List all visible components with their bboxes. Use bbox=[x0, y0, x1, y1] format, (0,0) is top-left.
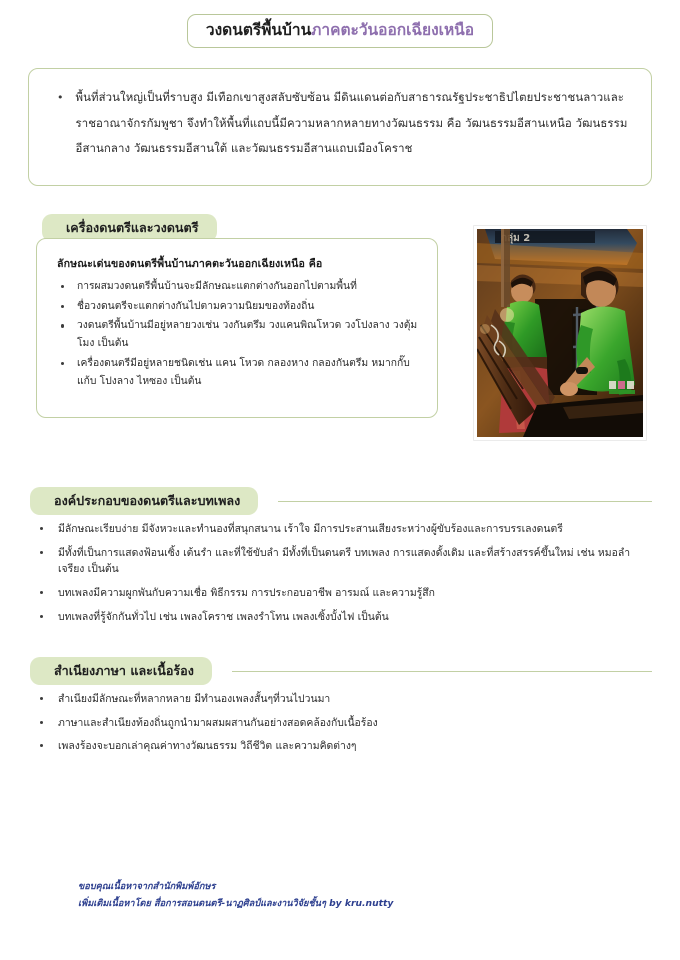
section-rule-dialect bbox=[232, 671, 652, 672]
section-header-dialect-label: สำเนียงภาษา และเนื้อร้อง bbox=[54, 661, 194, 681]
performance-photo-canvas: กลุ่ม 2 bbox=[477, 229, 643, 437]
page-title-wrapper: วงดนตรีพื้นบ้านภาคตะวันออกเฉียงเหนือ bbox=[0, 14, 680, 48]
list-item: มีลักษณะเรียบง่าย มีจังหวะและทำนองที่สนุ… bbox=[30, 521, 654, 538]
list-item: สำเนียงมีลักษณะที่หลากหลาย มีทำนองเพลงสั… bbox=[30, 691, 654, 708]
intro-bullet-row: • พื้นที่ส่วนใหญ่เป็นที่ราบสูง มีเทือกเข… bbox=[49, 85, 631, 162]
instruments-subheading: ลักษณะเด่นของดนตรีพื้นบ้านภาคตะวันออกเฉี… bbox=[57, 255, 421, 272]
footer-line-2: เพิ่มเติมเนื้อหาโดย สื่อการสอนดนตรี-นาฏศ… bbox=[78, 895, 598, 912]
section-rule-components bbox=[278, 501, 652, 502]
dialect-bullet-list: สำเนียงมีลักษณะที่หลากหลาย มีทำนองเพลงสั… bbox=[30, 691, 654, 762]
list-item: มีทั้งที่เป็นการแสดงฟ้อนเซิ้ง เต้นรำ และ… bbox=[30, 545, 654, 578]
list-item: บทเพลงมีความผูกพันกับความเชื่อ พิธีกรรม … bbox=[30, 585, 654, 602]
instruments-panel: ลักษณะเด่นของดนตรีพื้นบ้านภาคตะวันออกเฉี… bbox=[36, 238, 438, 418]
bullet-icon: • bbox=[57, 92, 64, 103]
performance-photo: กลุ่ม 2 bbox=[474, 226, 646, 440]
list-item: วงดนตรีพื้นบ้านมีอยู่หลายวงเช่น วงกันตรึ… bbox=[53, 317, 421, 352]
page-title-main: วงดนตรีพื้นบ้าน bbox=[206, 21, 311, 39]
components-bullet-list: มีลักษณะเรียบง่าย มีจังหวะและทำนองที่สนุ… bbox=[30, 521, 654, 632]
page-title-accent: ภาคตะวันออกเฉียงเหนือ bbox=[311, 21, 474, 39]
document-page: วงดนตรีพื้นบ้านภาคตะวันออกเฉียงเหนือ • พ… bbox=[0, 0, 680, 960]
section-header-instruments-label: เครื่องดนตรีและวงดนตรี bbox=[66, 218, 199, 238]
performance-photo-illustration: กลุ่ม 2 bbox=[477, 229, 643, 437]
page-title: วงดนตรีพื้นบ้านภาคตะวันออกเฉียงเหนือ bbox=[187, 14, 493, 48]
list-item: เครื่องดนตรีมีอยู่หลายชนิดเช่น แคน โหวด … bbox=[53, 355, 421, 390]
list-item: ภาษาและสำเนียงท้องถิ่นถูกนำมาผสมผสานกันอ… bbox=[30, 715, 654, 732]
section-header-dialect: สำเนียงภาษา และเนื้อร้อง bbox=[30, 657, 212, 685]
section-header-components: องค์ประกอบของดนตรีและบทเพลง bbox=[30, 487, 258, 515]
intro-panel: • พื้นที่ส่วนใหญ่เป็นที่ราบสูง มีเทือกเข… bbox=[28, 68, 652, 186]
footer-line-1: ขอบคุณเนื้อหาจากสำนักพิมพ์อักษร bbox=[78, 878, 598, 895]
list-item: เพลงร้องจะบอกเล่าคุณค่าทางวัฒนธรรม วิถีช… bbox=[30, 738, 654, 755]
list-item: การผสมวงดนตรีพื้นบ้านจะมีลักษณะแตกต่างกั… bbox=[53, 278, 421, 296]
list-item: ชื่อวงดนตรีจะแตกต่างกันไปตามความนิยมของท… bbox=[53, 298, 421, 316]
footer-credits: ขอบคุณเนื้อหาจากสำนักพิมพ์อักษร เพิ่มเติ… bbox=[78, 878, 598, 912]
section-header-components-label: องค์ประกอบของดนตรีและบทเพลง bbox=[54, 491, 240, 511]
list-item: บทเพลงที่รู้จักกันทั่วไป เช่น เพลงโคราช … bbox=[30, 609, 654, 626]
instruments-bullet-list: การผสมวงดนตรีพื้นบ้านจะมีลักษณะแตกต่างกั… bbox=[53, 278, 421, 390]
intro-text: พื้นที่ส่วนใหญ่เป็นที่ราบสูง มีเทือกเขาส… bbox=[76, 85, 632, 162]
